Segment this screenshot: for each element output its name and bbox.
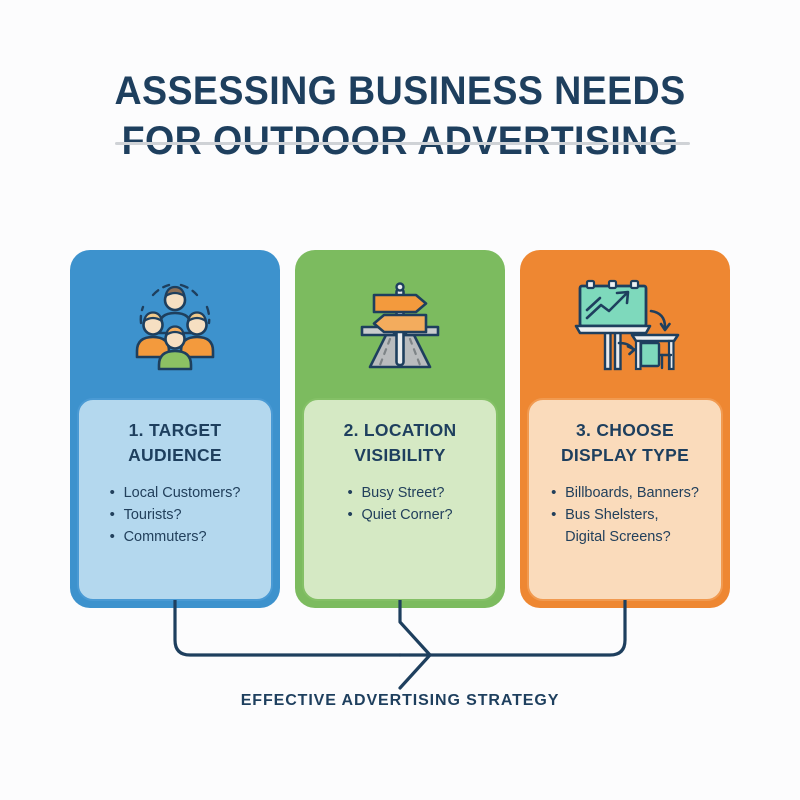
card-panel: 3. Choose Display Type Billboards, Banne…: [527, 398, 723, 601]
header: Assessing Business Needs for Outdoor Adv…: [0, 66, 800, 166]
connector-right-branch: [400, 600, 625, 655]
card-heading: 3. Choose Display Type: [541, 418, 709, 468]
card-panel: 2. Location Visibility Busy Street? Quie…: [302, 398, 498, 601]
card-icon-area: [295, 250, 505, 400]
connector-left-branch: [175, 600, 400, 655]
card-location-visibility[interactable]: 2. Location Visibility Busy Street? Quie…: [295, 250, 505, 608]
connector-center-branch: [400, 600, 430, 655]
list-item: Busy Street?: [347, 482, 452, 504]
card-panel: 1. Target Audience Local Customers? Tour…: [77, 398, 273, 601]
card-target-audience[interactable]: 1. Target Audience Local Customers? Tour…: [70, 250, 280, 608]
group-of-people-icon: [123, 273, 227, 377]
card-bullets-wrap: Busy Street? Quiet Corner?: [316, 482, 484, 526]
list-item: Digital Screens?: [551, 526, 699, 548]
card-bullet-list: Billboards, Banners? Bus Shelsters, Digi…: [551, 482, 699, 548]
card-bullet-list: Busy Street? Quiet Corner?: [347, 482, 452, 526]
card-icon-area: [70, 250, 280, 400]
card-heading: 1. Target Audience: [91, 418, 259, 468]
footer-strategy-label: Effective Advertising Strategy: [0, 692, 800, 710]
list-item: Quiet Corner?: [347, 504, 452, 526]
list-item: Tourists?: [110, 504, 241, 526]
card-icon-area: [520, 250, 730, 400]
card-bullets-wrap: Local Customers? Tourists? Commuters?: [91, 482, 259, 548]
card-bullets-wrap: Billboards, Banners? Bus Shelsters, Digi…: [541, 482, 709, 548]
billboard-bus-shelter-icon: [570, 273, 680, 377]
steps-row: 1. Target Audience Local Customers? Tour…: [70, 250, 730, 608]
list-item: Bus Shelsters,: [551, 504, 699, 526]
list-item: Billboards, Banners?: [551, 482, 699, 504]
card-choose-display-type[interactable]: 3. Choose Display Type Billboards, Banne…: [520, 250, 730, 608]
title-divider: [115, 142, 690, 145]
infographic-canvas: Assessing Business Needs for Outdoor Adv…: [0, 0, 800, 800]
connector-arrow-tail: [400, 655, 430, 688]
list-item: Local Customers?: [110, 482, 241, 504]
card-heading: 2. Location Visibility: [316, 418, 484, 468]
card-bullet-list: Local Customers? Tourists? Commuters?: [110, 482, 241, 548]
list-item: Commuters?: [110, 526, 241, 548]
page-title: Assessing Business Needs for Outdoor Adv…: [24, 66, 776, 166]
signpost-crossroad-icon: [348, 273, 452, 377]
